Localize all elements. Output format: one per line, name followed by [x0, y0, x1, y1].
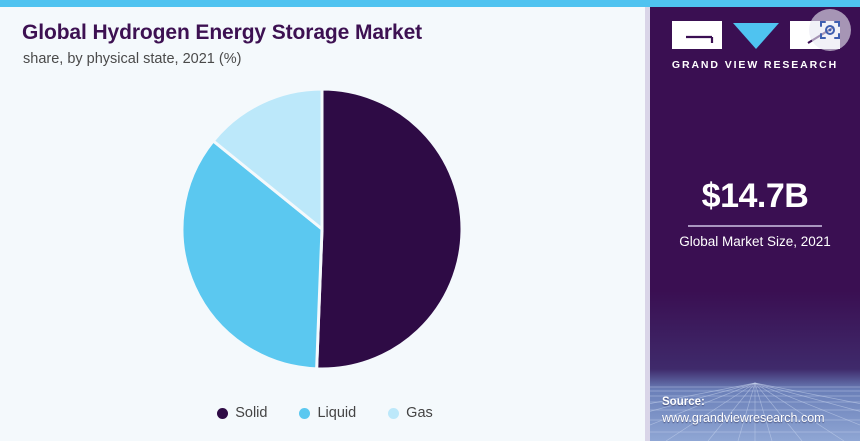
source-url-link[interactable]: www.grandviewresearch.com — [662, 411, 825, 425]
brand-panel: GRAND VIEW RESEARCH $14.7B Global Market… — [650, 7, 860, 441]
legend-item-liquid[interactable]: Liquid — [299, 405, 356, 421]
pie-chart — [181, 88, 463, 370]
brand-name: GRAND VIEW RESEARCH — [650, 59, 860, 71]
chart-legend: SolidLiquidGas — [0, 405, 650, 421]
legend-swatch-icon — [388, 408, 399, 419]
pie-chart-svg — [181, 88, 463, 370]
value-underline — [688, 225, 822, 227]
legend-swatch-icon — [217, 408, 228, 419]
legend-item-gas[interactable]: Gas — [388, 405, 433, 421]
legend-item-solid[interactable]: Solid — [217, 405, 267, 421]
focus-target-icon — [818, 18, 842, 42]
top-accent-bar — [0, 0, 860, 7]
source-label: Source: — [662, 396, 705, 408]
pie-slice-solid[interactable] — [317, 89, 462, 369]
legend-label: Solid — [235, 405, 267, 421]
legend-swatch-icon — [299, 408, 310, 419]
chart-panel: Global Hydrogen Energy Storage Market sh… — [0, 7, 650, 441]
watermark-badge — [809, 9, 851, 51]
legend-label: Gas — [406, 405, 433, 421]
page-title: Global Hydrogen Energy Storage Market — [22, 21, 422, 45]
legend-label: Liquid — [317, 405, 356, 421]
chart-subtitle: share, by physical state, 2021 (%) — [23, 51, 241, 67]
logo-triangle-v-icon — [733, 21, 779, 49]
market-size-value: $14.7B — [650, 177, 860, 216]
infographic-root: Global Hydrogen Energy Storage Market sh… — [0, 0, 860, 441]
logo-block-g-icon — [672, 21, 722, 49]
market-size-caption: Global Market Size, 2021 — [672, 233, 838, 251]
